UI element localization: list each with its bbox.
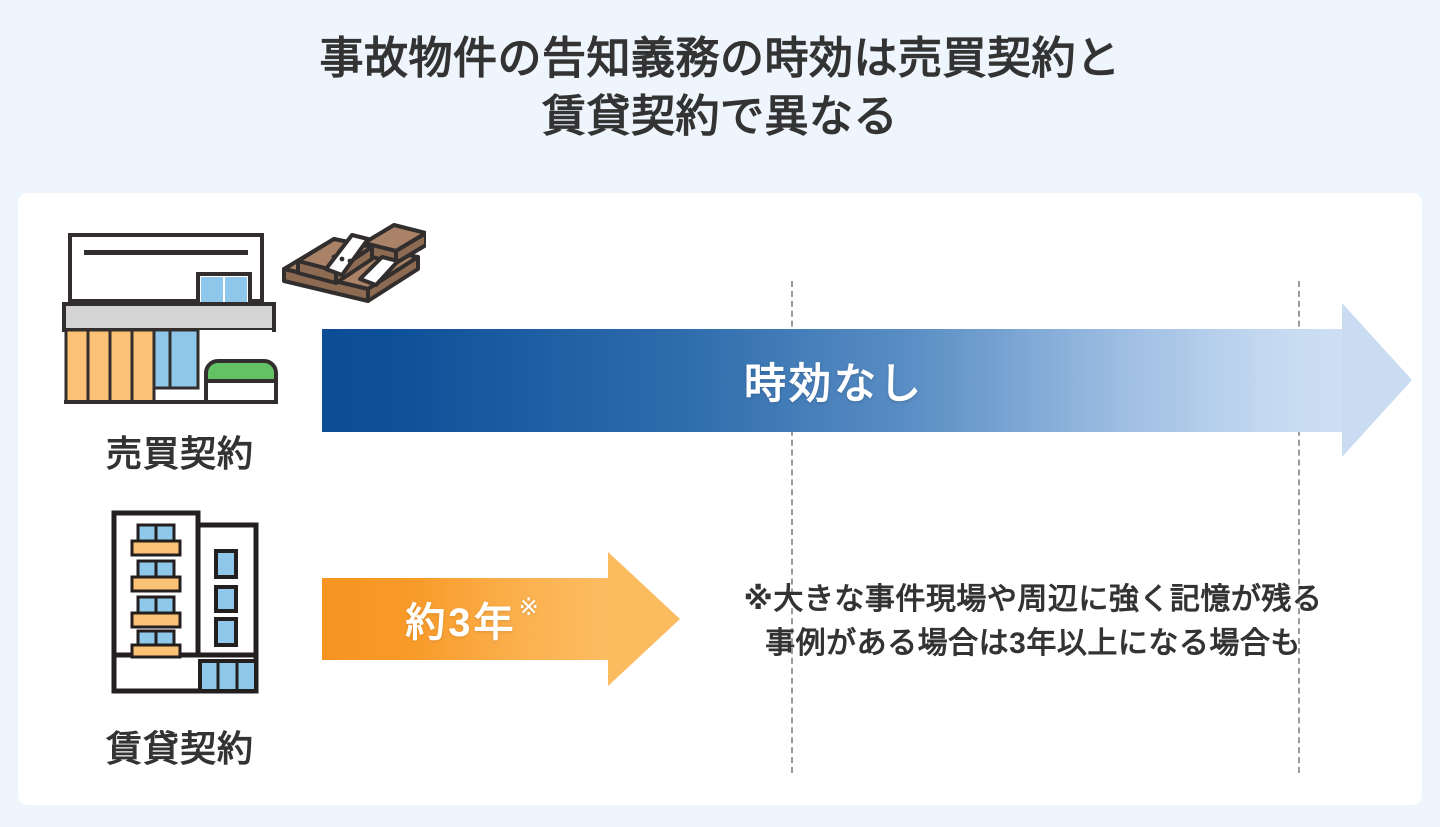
apartment-building-icon [104, 503, 274, 699]
infographic-card: 売買契約 時効なし [18, 193, 1422, 805]
rent-timeline-arrow: 約3年※ [322, 578, 684, 660]
sale-arrow-head-icon [1342, 303, 1412, 457]
store-building-icon [62, 231, 286, 411]
row-label-rent: 賃貸契約 [40, 720, 320, 772]
rent-arrow-label: 約3年※ [322, 578, 622, 660]
sale-arrow-label: 時効なし [322, 329, 1346, 432]
footnote-marker-icon: ※ [519, 593, 539, 622]
sale-timeline-arrow: 時効なし [322, 329, 1412, 432]
row-label-sale: 売買契約 [40, 425, 320, 477]
cash-bundle-icon [276, 213, 426, 313]
rent-arrow-label-text: 約3年 [405, 590, 516, 648]
footnote-text: ※大きな事件現場や周辺に強く記憶が残る 事例がある場合は3年以上になる場合も [668, 578, 1398, 667]
page-title: 事故物件の告知義務の時効は売買契約と 賃貸契約で異なる [0, 30, 1440, 146]
